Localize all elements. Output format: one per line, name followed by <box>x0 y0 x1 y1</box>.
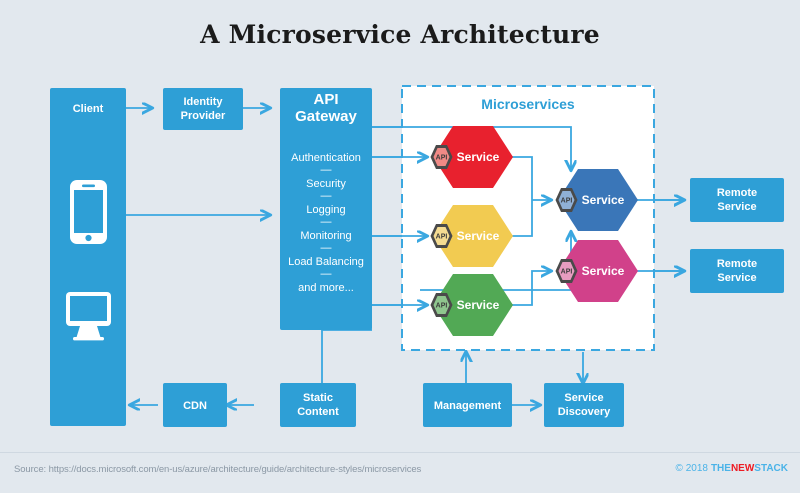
api-gateway-title-line1: API <box>313 91 338 108</box>
service-discovery-label-line1: Service <box>564 392 603 404</box>
node-remote-service-1[interactable]: Remote Service <box>690 178 784 222</box>
cdn-label: CDN <box>183 400 207 412</box>
service-label-green: Service <box>457 298 500 312</box>
node-cdn[interactable]: CDN <box>163 383 227 427</box>
remote-service-1-label-line2: Service <box>717 201 756 213</box>
architecture-diagram: Microservices Client <box>0 0 800 493</box>
node-static-content[interactable]: Static Content <box>280 383 356 427</box>
static-content-label-line2: Content <box>297 406 339 418</box>
api-gateway-feature-and-more: and more... <box>298 282 354 294</box>
service-label-blue: Service <box>582 193 625 207</box>
api-gateway-feature-authentication: Authentication <box>291 152 361 164</box>
copyright-text: © 2018 <box>676 463 708 474</box>
service-label-yellow: Service <box>457 229 500 243</box>
node-management[interactable]: Management <box>423 383 512 427</box>
api-gateway-feature-load-balancing: Load Balancing <box>288 256 364 268</box>
api-gateway-separator-1: — <box>321 164 332 176</box>
api-gateway-title-line2: Gateway <box>295 108 357 125</box>
identity-provider-label-line2: Provider <box>181 110 226 122</box>
footer-divider <box>0 452 800 453</box>
api-badge-label-blue: API <box>561 198 573 205</box>
node-identity-provider[interactable]: Identity Provider <box>163 88 243 130</box>
api-gateway-separator-2: — <box>321 190 332 202</box>
api-gateway-feature-security: Security <box>306 178 346 190</box>
api-gateway-separator-3: — <box>321 216 332 228</box>
service-discovery-label-line2: Discovery <box>558 406 611 418</box>
api-badge-label-yellow: API <box>436 234 448 241</box>
remote-service-2-label-line1: Remote <box>717 258 757 270</box>
api-gateway-feature-logging: Logging <box>306 204 345 216</box>
api-gateway-separator-4: — <box>321 242 332 254</box>
api-gateway-separator-5: — <box>321 268 332 280</box>
source-citation: Source: https://docs.microsoft.com/en-us… <box>14 464 421 475</box>
api-badge-label-pink: API <box>561 269 573 276</box>
api-badge-label-red: API <box>436 155 448 162</box>
api-gateway-feature-monitoring: Monitoring <box>300 230 351 242</box>
management-label: Management <box>434 400 502 412</box>
remote-service-1-label-line1: Remote <box>717 187 757 199</box>
client-label: Client <box>73 103 104 115</box>
static-content-label-line1: Static <box>303 392 333 404</box>
service-label-red: Service <box>457 150 500 164</box>
node-api-gateway[interactable]: API Gateway Authentication — Security — … <box>280 88 372 330</box>
identity-provider-label-line1: Identity <box>183 96 223 108</box>
brand-logo: © 2018THENEWSTACK <box>676 463 788 474</box>
brand-stack: STACK <box>754 463 788 474</box>
node-remote-service-2[interactable]: Remote Service <box>690 249 784 293</box>
connector-gateway-static <box>322 330 372 383</box>
api-badge-label-green: API <box>436 303 448 310</box>
phone-icon <box>70 180 107 244</box>
service-label-pink: Service <box>582 264 625 278</box>
diagram-canvas: A Microservice Architecture <box>0 0 800 493</box>
brand-new: NEW <box>731 463 754 474</box>
node-client[interactable]: Client <box>50 88 126 426</box>
remote-service-2-label-line2: Service <box>717 272 756 284</box>
microservices-group-label: Microservices <box>481 96 575 112</box>
brand-the: THE <box>711 463 731 474</box>
node-service-discovery[interactable]: Service Discovery <box>544 383 624 427</box>
